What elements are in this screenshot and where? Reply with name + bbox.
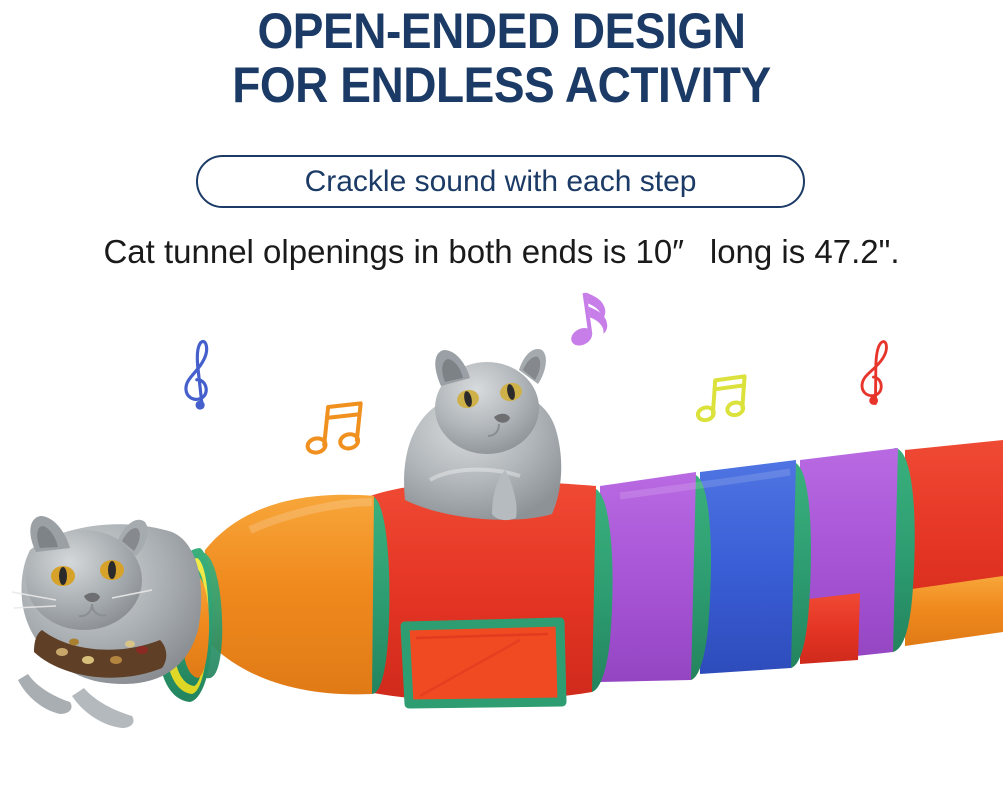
- dimension-note-part1: Cat tunnel olpenings in both ends is 10″: [103, 233, 683, 270]
- tagline-text: Crackle sound with each step: [305, 165, 697, 199]
- tagline-badge: Crackle sound with each step: [196, 155, 805, 208]
- cat-tunnel-body: [158, 440, 1003, 704]
- headline-line-2: FOR ENDLESS ACTIVITY: [40, 58, 963, 112]
- cat-left-in-tunnel-opening: [12, 516, 201, 728]
- product-photo-scene: [0, 300, 1003, 800]
- dimension-note-part2: long is 47.2".: [710, 233, 900, 270]
- page-title: OPEN-ENDED DESIGN FOR ENDLESS ACTIVITY: [40, 4, 963, 112]
- dimension-note: Cat tunnel olpenings in both ends is 10″…: [0, 233, 1003, 271]
- headline-line-1: OPEN-ENDED DESIGN: [40, 4, 963, 58]
- product-marketing-banner: OPEN-ENDED DESIGN FOR ENDLESS ACTIVITY C…: [0, 0, 1003, 800]
- cat-on-top-of-tunnel: [404, 349, 561, 520]
